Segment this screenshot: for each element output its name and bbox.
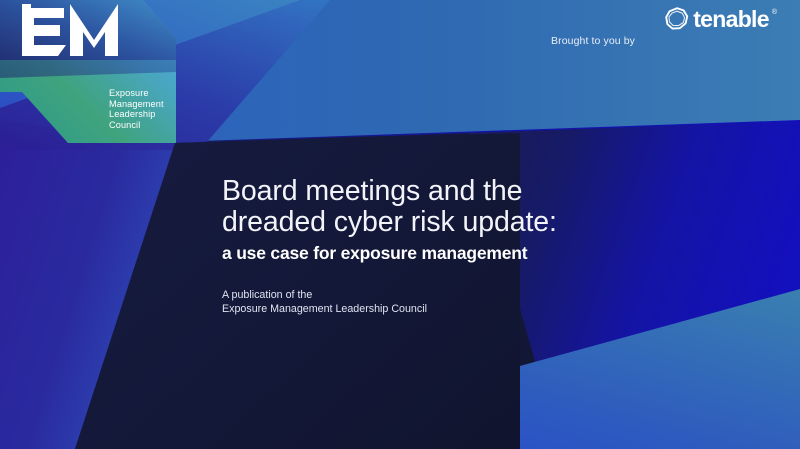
title-subtitle: a use case for exposure management — [222, 242, 652, 264]
em-letter-e-tick — [22, 4, 31, 13]
tenable-wordmark: tenable — [693, 8, 769, 31]
title-line-1: Board meetings and the — [222, 176, 652, 207]
tenable-trademark: ® — [772, 9, 777, 16]
publication-credit: A publication of the Exposure Management… — [222, 289, 427, 316]
em-logo-badge: Exposure Management Leadership Council — [0, 0, 176, 143]
brought-to-you-by-label: Brought to you by — [551, 35, 635, 47]
em-council-name: Exposure Management Leadership Council — [109, 88, 179, 130]
title-block: Board meetings and the dreaded cyber ris… — [222, 176, 652, 264]
report-cover: Exposure Management Leadership Council t… — [0, 0, 800, 449]
em-letter-e — [22, 8, 66, 56]
title-line-2: dreaded cyber risk update: — [222, 207, 652, 238]
tenable-logo[interactable]: tenable ® — [664, 6, 777, 32]
tenable-hexagon-icon — [664, 6, 690, 32]
